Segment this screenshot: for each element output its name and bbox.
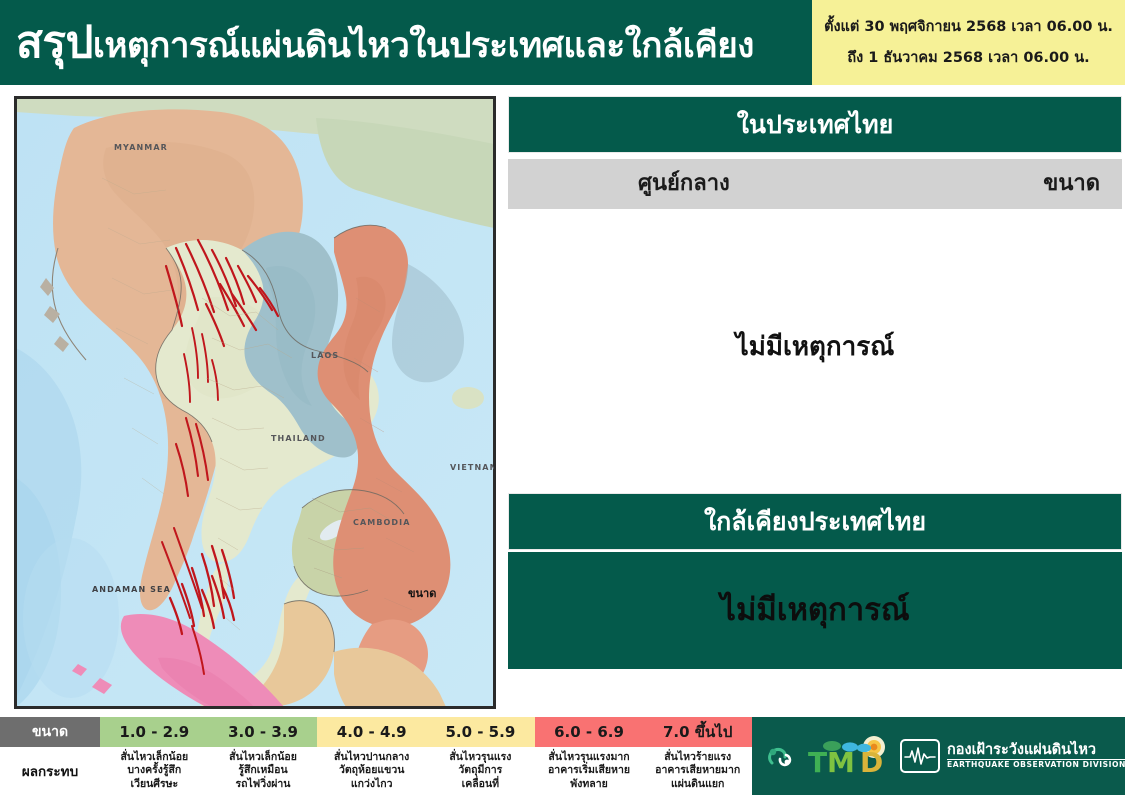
events-column: ในประเทศไทย ศูนย์กลาง ขนาด ไม่มีเหตุการณ… bbox=[508, 96, 1122, 709]
page-title: สรุปเหตุการณ์แผ่นดินไหวในประเทศและใกล้เค… bbox=[16, 21, 754, 65]
eod-text-block: กองเฝ้าระวังแผ่นดินไหว EARTHQUAKE OBSERV… bbox=[947, 743, 1125, 768]
map-graphic bbox=[16, 98, 494, 707]
tmd-wordmark: T M D bbox=[806, 735, 892, 777]
eod-title-english: EARTHQUAKE OBSERVATION DIVISION bbox=[947, 761, 1125, 769]
seismograph-icon bbox=[900, 739, 940, 773]
earthquake-summary-page: สรุปเหตุการณ์แผ่นดินไหวในประเทศและใกล้เค… bbox=[0, 0, 1125, 795]
nearby-section-header: ใกล้เคียงประเทศไทย bbox=[508, 493, 1122, 550]
legend-effect-4: สั่นไหวรุนแรงมากอาคารเริ่มเสียหายพังทลาย bbox=[535, 747, 644, 795]
legend-effect-2: สั่นไหวปานกลางวัตถุห้อยแขวนแกว่งไกว bbox=[317, 747, 426, 795]
tmd-swirl-glyph bbox=[764, 739, 798, 773]
legend-scale-2: 4.0 - 4.9 bbox=[317, 717, 426, 747]
eod-title-thai: กองเฝ้าระวังแผ่นดินไหว bbox=[947, 743, 1125, 758]
domestic-events-list: ไม่มีเหตุการณ์ bbox=[508, 209, 1122, 484]
page-title-rest: เหตุการณ์แผ่นดินไหวในประเทศและใกล้เคียง bbox=[93, 26, 754, 66]
legend-effect-0: สั่นไหวเล็กน้อยบางครั้งรู้สึกเวียนศีรษะ bbox=[100, 747, 209, 795]
domestic-empty-message: ไม่มีเหตุการณ์ bbox=[736, 334, 895, 360]
legend-scale-1: 3.0 - 3.9 bbox=[209, 717, 318, 747]
legend-effect-5: สั่นไหวร้ายแรงอาคารเสียหายมากแผ่นดินแยก bbox=[643, 747, 752, 795]
nearby-empty-message: ไม่มีเหตุการณ์ bbox=[720, 595, 909, 626]
eod-logo-block: กองเฝ้าระวังแผ่นดินไหว EARTHQUAKE OBSERV… bbox=[900, 739, 1125, 773]
legend-effect-1: สั่นไหวเล็กน้อยรู้สึกเหมือนรถไฟวิ่งผ่าน bbox=[209, 747, 318, 795]
map-legend-magnitude-label: ขนาด bbox=[408, 584, 436, 602]
legend-effect-3: สั่นไหวรุนแรงวัตถุมีการเคลื่อนที่ bbox=[426, 747, 535, 795]
page-header: สรุปเหตุการณ์แผ่นดินไหวในประเทศและใกล้เค… bbox=[0, 0, 1125, 85]
tmd-swirl-icon bbox=[764, 739, 798, 773]
title-band: สรุปเหตุการณ์แผ่นดินไหวในประเทศและใกล้เค… bbox=[0, 0, 812, 85]
magnitude-legend-bar: ขนาด 1.0 - 2.9 3.0 - 3.9 4.0 - 4.9 5.0 -… bbox=[0, 717, 1125, 795]
date-from: ตั้งแต่ 30 พฤศจิกายน 2568 เวลา 06.00 น. bbox=[824, 20, 1113, 35]
legend-row-label-effect: ผลกระทบ bbox=[0, 747, 100, 795]
seismograph-glyph bbox=[904, 746, 936, 766]
domestic-section-header: ในประเทศไทย bbox=[508, 96, 1122, 153]
svg-text:D: D bbox=[860, 746, 883, 777]
tmd-logo-bar: T M D กองเฝ้าระวังแผ่นดินไหว EARTHQUAKE … bbox=[752, 717, 1125, 795]
legend-scale-5: 7.0 ขึ้นไป bbox=[643, 717, 752, 747]
nearby-section-title: ใกล้เคียงประเทศไทย bbox=[704, 509, 926, 534]
legend-scale-4: 6.0 - 6.9 bbox=[535, 717, 644, 747]
legend-scale-row: ขนาด 1.0 - 2.9 3.0 - 3.9 4.0 - 4.9 5.0 -… bbox=[0, 717, 752, 747]
date-to: ถึง 1 ธันวาคม 2568 เวลา 06.00 น. bbox=[847, 51, 1089, 66]
domestic-column-headers: ศูนย์กลาง ขนาด bbox=[508, 159, 1122, 209]
column-header-magnitude: ขนาด bbox=[1043, 173, 1100, 195]
legend-scale-3: 5.0 - 5.9 bbox=[426, 717, 535, 747]
legend-row-label-scale: ขนาด bbox=[0, 717, 100, 747]
svg-text:T: T bbox=[808, 746, 827, 777]
date-range-band: ตั้งแต่ 30 พฤศจิกายน 2568 เวลา 06.00 น. … bbox=[812, 0, 1125, 85]
legend-effect-row: ผลกระทบ สั่นไหวเล็กน้อยบางครั้งรู้สึกเวี… bbox=[0, 747, 752, 795]
regional-map[interactable]: MYANMAR LAOS THAILAND VIETNAM CAMBODIA A… bbox=[14, 96, 496, 709]
nearby-events-list: ไม่มีเหตุการณ์ bbox=[508, 552, 1122, 669]
legend-scale-0: 1.0 - 2.9 bbox=[100, 717, 209, 747]
legend-table: ขนาด 1.0 - 2.9 3.0 - 3.9 4.0 - 4.9 5.0 -… bbox=[0, 717, 752, 795]
page-title-prefix: สรุป bbox=[16, 17, 93, 68]
column-header-epicenter: ศูนย์กลาง bbox=[638, 173, 730, 195]
domestic-section-title: ในประเทศไทย bbox=[737, 112, 894, 137]
svg-text:M: M bbox=[827, 746, 855, 777]
tmd-wordmark-glyph: T M D bbox=[806, 735, 892, 777]
